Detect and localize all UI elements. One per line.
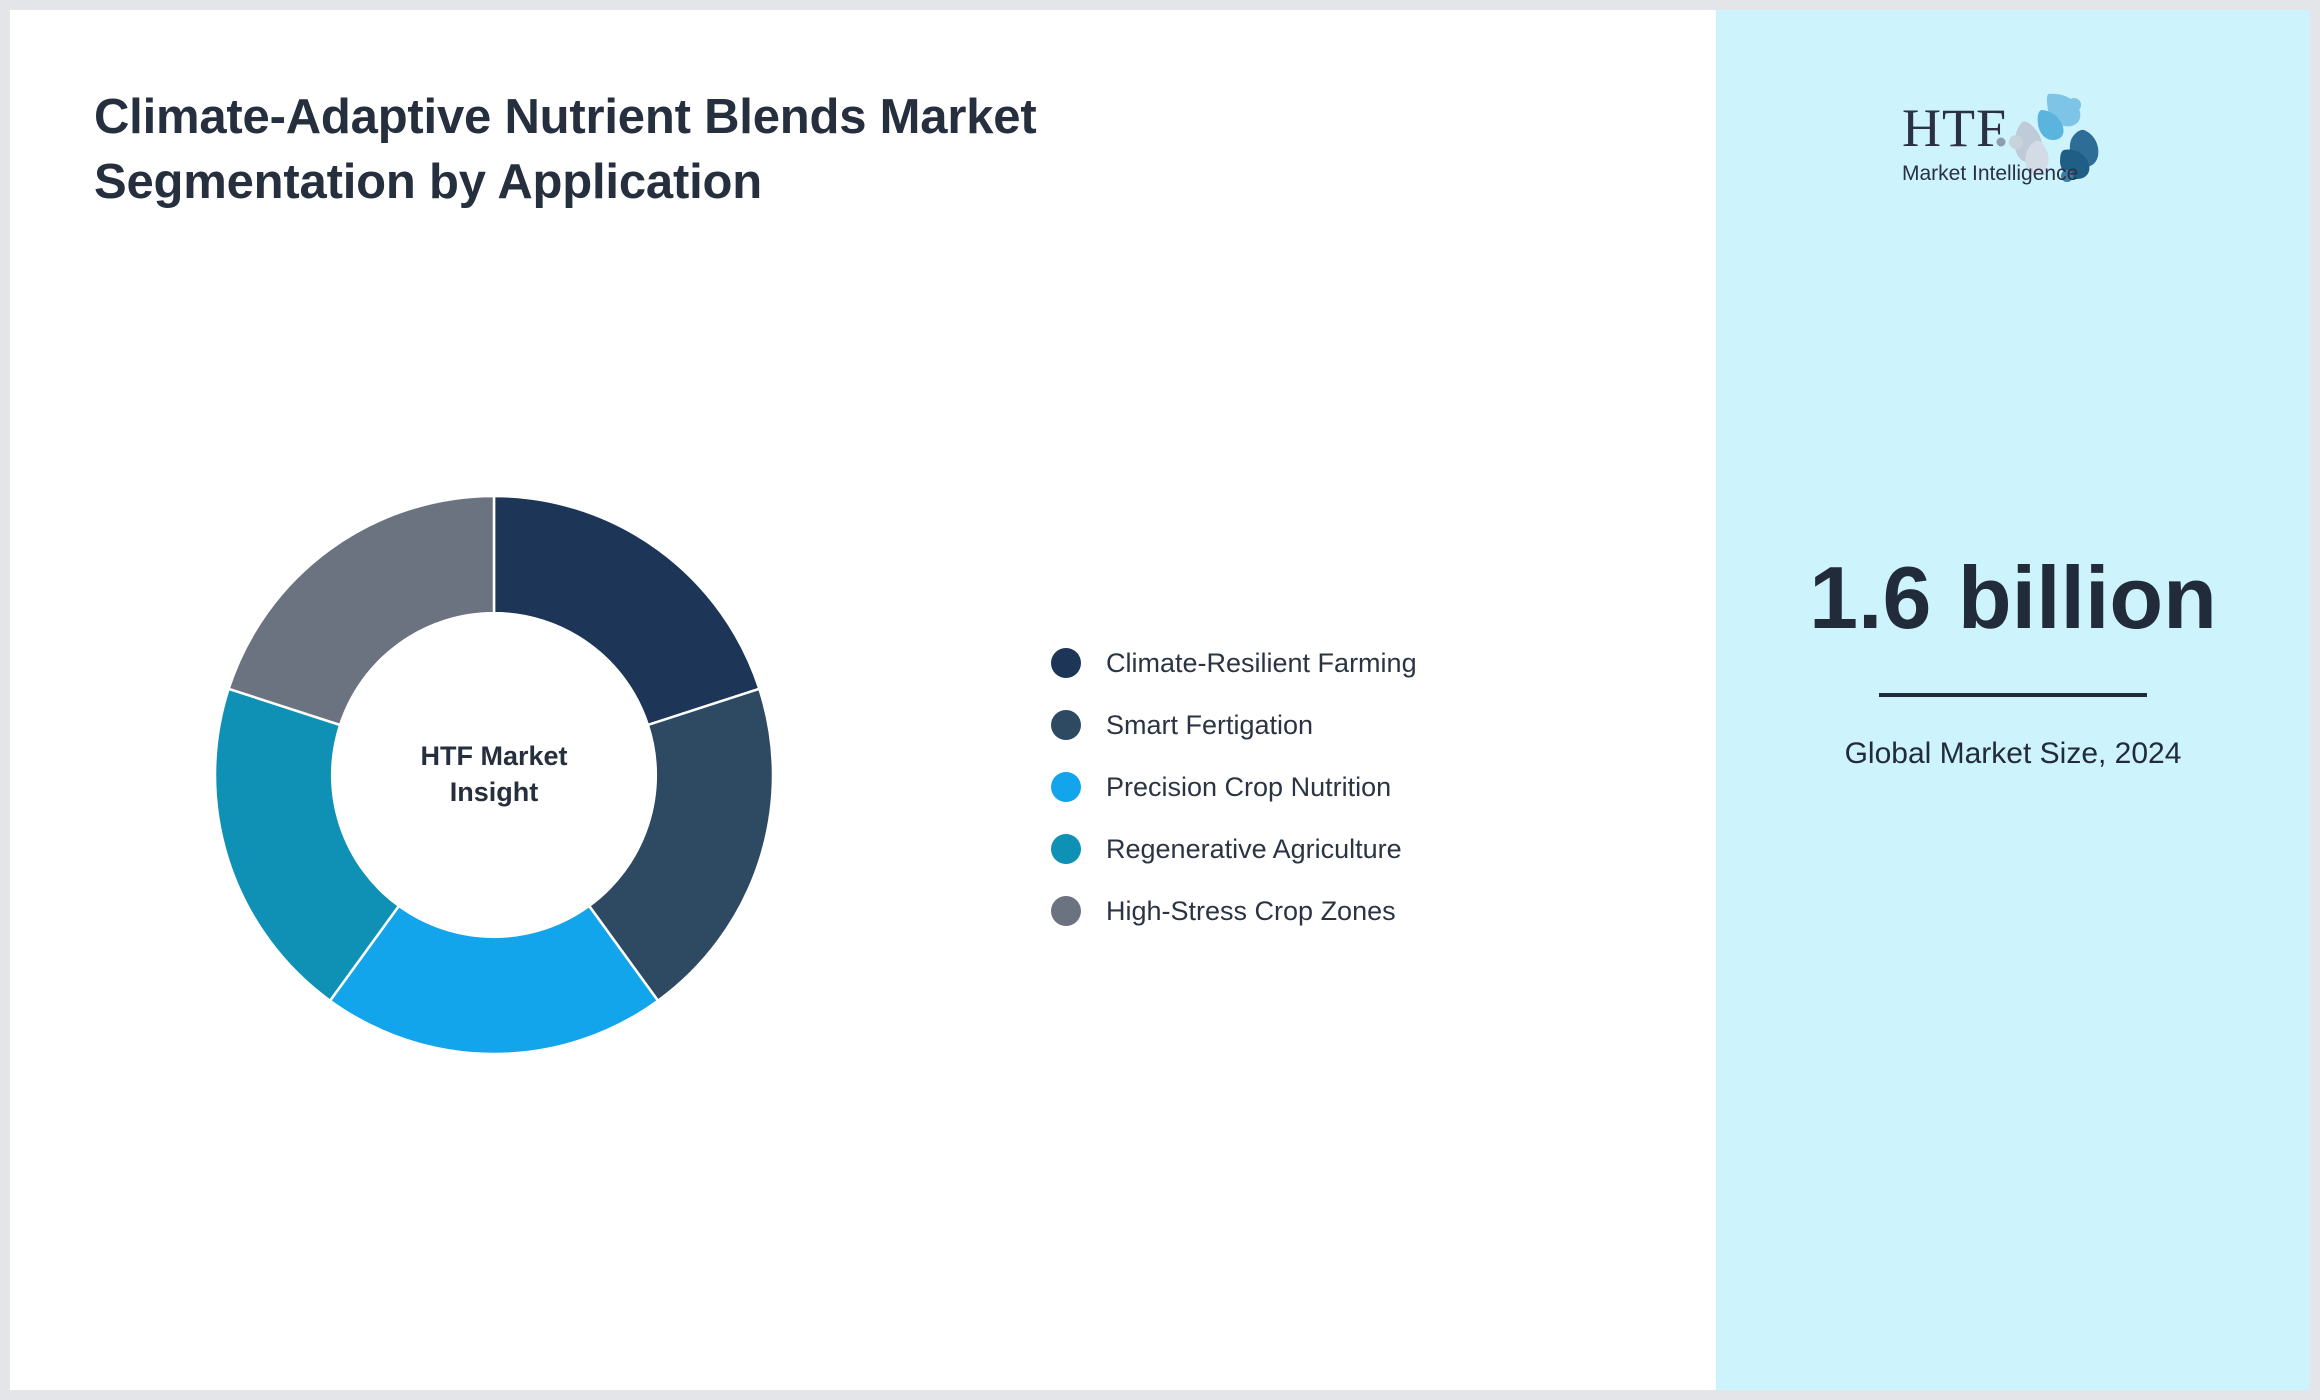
legend-item-label: High-Stress Crop Zones [1106, 896, 1396, 927]
donut-chart-svg [215, 496, 773, 1054]
htf-logo-svg: HTF Ma [1898, 88, 2128, 188]
main-panel: Climate-Adaptive Nutrient Blends Market … [10, 10, 1716, 1390]
legend-swatch-icon [1051, 896, 1081, 926]
svg-text:HTF: HTF [1902, 98, 2007, 158]
legend-swatch-icon [1051, 834, 1081, 864]
legend-item-label: Climate-Resilient Farming [1106, 648, 1417, 679]
page-title: Climate-Adaptive Nutrient Blends Market … [94, 85, 1094, 216]
donut-slices [215, 496, 773, 1054]
legend-swatch-icon [1051, 710, 1081, 740]
legend-item-label: Regenerative Agriculture [1106, 834, 1402, 865]
legend-item[interactable]: High-Stress Crop Zones [1051, 880, 1611, 942]
chart-legend: Climate-Resilient FarmingSmart Fertigati… [1051, 632, 1611, 942]
legend-item[interactable]: Precision Crop Nutrition [1051, 756, 1611, 818]
htf-market-intelligence-logo: HTF Ma [1898, 88, 2128, 188]
legend-item[interactable]: Regenerative Agriculture [1051, 818, 1611, 880]
legend-swatch-icon [1051, 648, 1081, 678]
svg-text:Market Intelligence: Market Intelligence [1902, 162, 2078, 185]
market-size-stat: 1.6 billion Global Market Size, 2024 [1716, 550, 2310, 776]
legend-item-label: Smart Fertigation [1106, 710, 1313, 741]
stat-caption: Global Market Size, 2024 [1716, 733, 2310, 776]
infographic-canvas: Climate-Adaptive Nutrient Blends Market … [0, 0, 2320, 1400]
donut-chart: HTF Market Insight [215, 496, 773, 1054]
sidebar-panel: HTF Ma [1716, 10, 2310, 1390]
legend-item[interactable]: Climate-Resilient Farming [1051, 632, 1611, 694]
stat-value: 1.6 billion [1716, 550, 2310, 645]
logo-dot-icon [1997, 138, 2006, 147]
stat-divider [1879, 693, 2147, 697]
legend-item[interactable]: Smart Fertigation [1051, 694, 1611, 756]
legend-item-label: Precision Crop Nutrition [1106, 772, 1391, 803]
donut-slice[interactable] [494, 496, 759, 725]
donut-slice[interactable] [229, 496, 494, 725]
legend-swatch-icon [1051, 772, 1081, 802]
